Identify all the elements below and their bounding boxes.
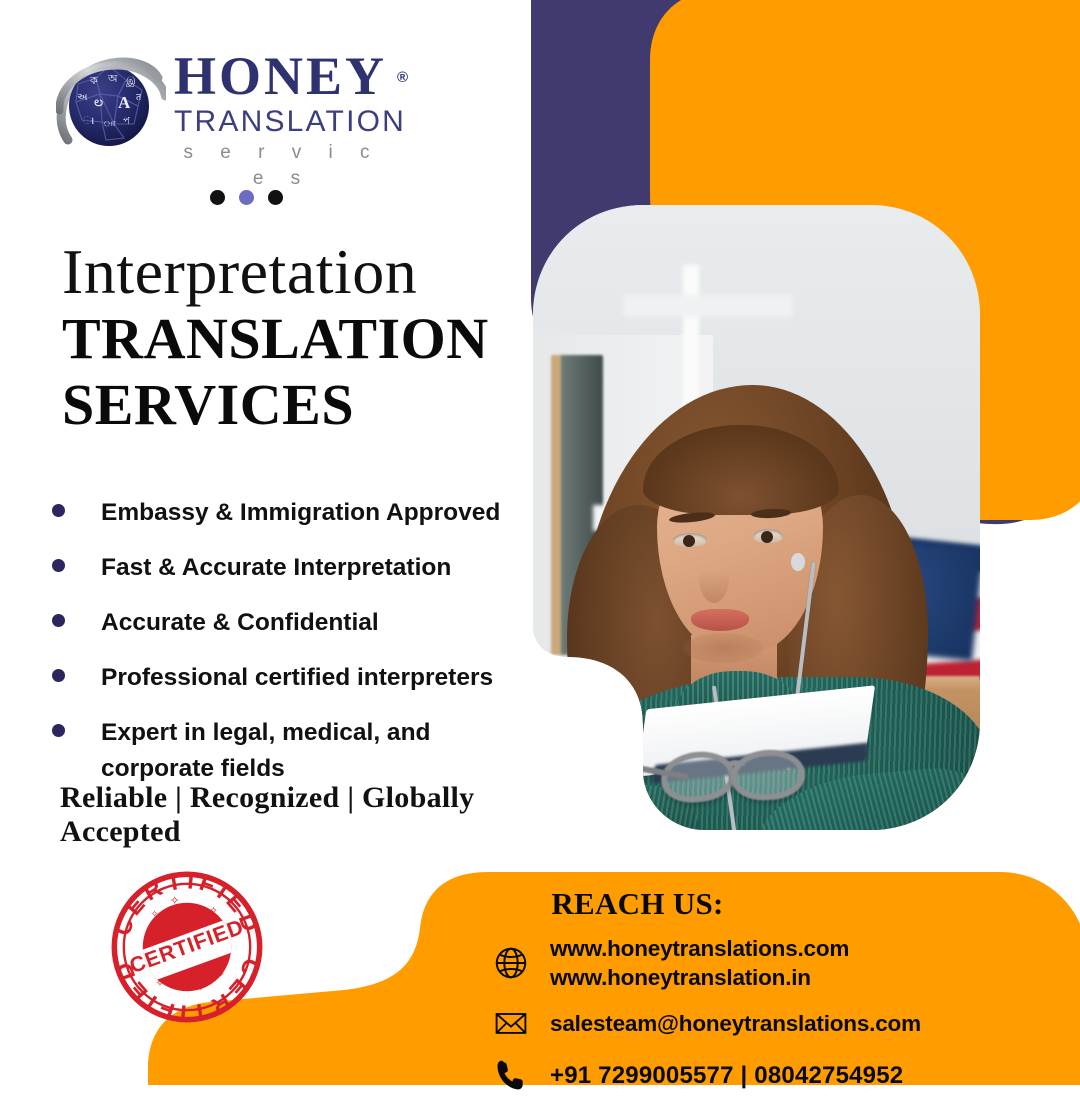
list-item: Accurate & Confidential xyxy=(52,605,542,641)
svg-text:અ: અ xyxy=(77,92,88,103)
bullet-icon xyxy=(52,724,65,737)
feature-label: Expert in legal, medical, and corporate … xyxy=(101,715,451,787)
subheading-interpretation: Interpretation xyxy=(62,238,417,306)
svg-text:A: A xyxy=(118,93,131,112)
svg-text:✧: ✧ xyxy=(196,983,205,994)
title-line-1: TRANSLATION xyxy=(62,306,532,372)
svg-text:ক: ক xyxy=(89,75,98,87)
decorative-dots xyxy=(210,190,283,205)
website-primary[interactable]: www.honeytranslations.com xyxy=(550,936,849,961)
contact-row-phone: +91 7299005577 | 08042754952 xyxy=(490,1054,1080,1096)
page-title: TRANSLATION SERVICES xyxy=(62,306,532,438)
feature-label: Fast & Accurate Interpretation xyxy=(101,550,451,586)
globe-icon xyxy=(490,942,532,984)
globe-languages-icon: ক অ இ અ ల A त ા ா প xyxy=(56,54,166,164)
list-item: Professional certified interpreters xyxy=(52,660,542,696)
feature-label: Embassy & Immigration Approved xyxy=(101,495,500,531)
svg-text:অ: অ xyxy=(107,73,118,85)
logo-name: HONEY xyxy=(174,46,387,106)
envelope-icon xyxy=(490,1002,532,1044)
certified-stamp-icon: CERTIFIED CERTIFIED ✧ ✧ ✧ ✧ ✧ ✧ xyxy=(108,868,266,1026)
svg-text:ા: ા xyxy=(83,115,95,127)
bullet-icon xyxy=(52,504,65,517)
feature-label: Professional certified interpreters xyxy=(101,660,493,696)
list-item: Embassy & Immigration Approved xyxy=(52,495,542,531)
logo-line-services: s e r v i c e s xyxy=(174,140,390,192)
bullet-icon xyxy=(52,669,65,682)
svg-text:✧: ✧ xyxy=(151,909,159,920)
title-line-2: SERVICES xyxy=(62,372,532,438)
svg-text:✧: ✧ xyxy=(155,978,164,990)
feature-label: Accurate & Confidential xyxy=(101,605,379,641)
svg-text:ల: ల xyxy=(94,94,103,109)
poster-canvas: ক অ இ અ ల A त ા ா প HONEY xyxy=(0,0,1080,1080)
contact-row-email: salesteam@honeytranslations.com xyxy=(490,1002,1080,1044)
website-secondary[interactable]: www.honeytranslation.in xyxy=(550,965,811,990)
contact-heading: REACH US: xyxy=(450,886,825,922)
bullet-icon xyxy=(52,559,65,572)
svg-text:✧: ✧ xyxy=(217,969,225,980)
contact-section: REACH US: www.honeytranslations.com www.… xyxy=(420,872,1080,1096)
bullet-icon xyxy=(52,614,65,627)
brand-logo[interactable]: ক অ இ અ ల A त ા ா প HONEY xyxy=(56,48,416,178)
list-item: Fast & Accurate Interpretation xyxy=(52,550,542,586)
svg-text:✧: ✧ xyxy=(170,893,180,907)
dot-2 xyxy=(239,190,254,205)
svg-text:இ: இ xyxy=(126,76,136,87)
email-address[interactable]: salesteam@honeytranslations.com xyxy=(550,1009,921,1038)
phone-icon xyxy=(490,1054,532,1096)
svg-text:✧: ✧ xyxy=(209,906,218,917)
phone-numbers[interactable]: +91 7299005577 | 08042754952 xyxy=(550,1061,903,1090)
list-item: Expert in legal, medical, and corporate … xyxy=(52,715,542,787)
registered-trademark-icon: ® xyxy=(397,50,411,106)
features-list: Embassy & Immigration Approved Fast & Ac… xyxy=(52,495,542,806)
logo-line-translation: TRANSLATION xyxy=(174,104,406,140)
eyeglasses xyxy=(661,750,861,804)
tagline: Reliable | Recognized | Globally Accepte… xyxy=(60,781,540,849)
dot-3 xyxy=(268,190,283,205)
contact-row-website: www.honeytranslations.com www.honeytrans… xyxy=(490,934,1080,992)
svg-text:त: त xyxy=(136,92,142,102)
svg-text:প: প xyxy=(123,116,130,127)
website-links[interactable]: www.honeytranslations.com www.honeytrans… xyxy=(550,934,849,992)
dot-1 xyxy=(210,190,225,205)
svg-text:ா: ா xyxy=(103,118,117,129)
interpreter-photo xyxy=(533,205,980,830)
